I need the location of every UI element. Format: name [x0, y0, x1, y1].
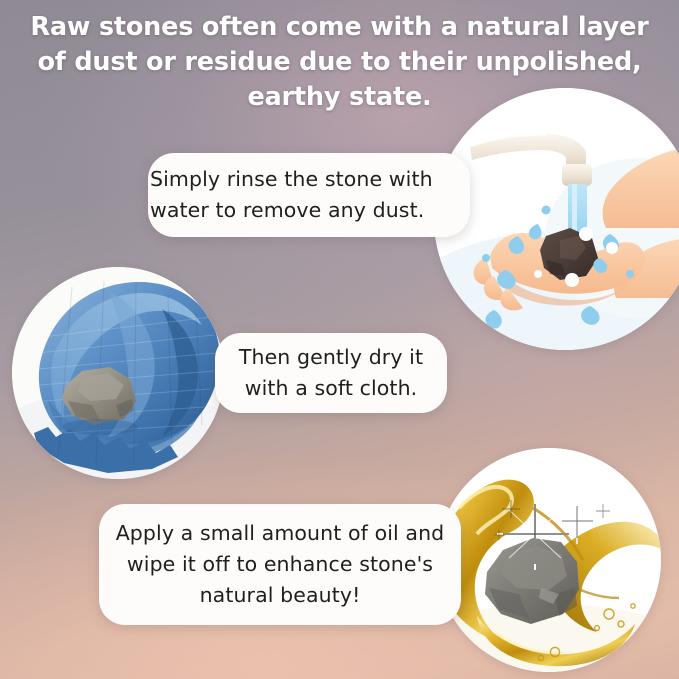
- caption-card-rinse: Simply rinse the stone with water to rem…: [148, 153, 470, 237]
- caption-text-dry: Then gently dry it with a soft cloth.: [215, 342, 447, 404]
- caption-text-oil: Apply a small amount of oil and wipe it …: [99, 518, 461, 611]
- poster-canvas: Raw stones often come with a natural lay…: [0, 0, 679, 679]
- caption-card-dry: Then gently dry it with a soft cloth.: [215, 333, 447, 413]
- image-grey-stone-on-blue-cloth: [12, 267, 224, 479]
- caption-card-oil: Apply a small amount of oil and wipe it …: [99, 504, 461, 625]
- poster-headline: Raw stones often come with a natural lay…: [0, 10, 679, 115]
- image-grey-stone-with-golden-oil-and-sparkles: [437, 448, 661, 672]
- caption-text-rinse: Simply rinse the stone with water to rem…: [148, 164, 470, 226]
- image-hands-rinsing-stone-under-faucet: [434, 88, 679, 350]
